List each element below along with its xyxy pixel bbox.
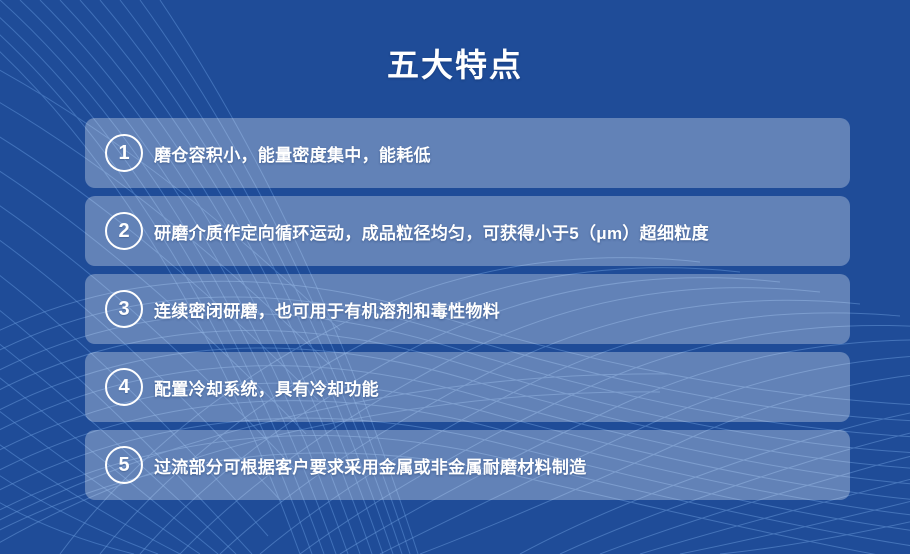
feature-text-2: 研磨介质作定向循环运动，成品粒径均匀，可获得小于5（μm）超细粒度 [154,219,709,244]
feature-number-badge-4: 4 [105,368,143,406]
feature-item-1[interactable]: 1 磨仓容积小，能量密度集中，能耗低 [85,118,850,188]
feature-text-5: 过流部分可根据客户要求采用金属或非金属耐磨材料制造 [154,453,587,478]
feature-number-badge-5: 5 [105,446,143,484]
feature-item-4[interactable]: 4 配置冷却系统，具有冷却功能 [85,352,850,422]
feature-list: 1 磨仓容积小，能量密度集中，能耗低 2 研磨介质作定向循环运动，成品粒径均匀，… [85,118,850,500]
feature-number-badge-1: 1 [105,134,143,172]
feature-number-badge-3: 3 [105,290,143,328]
feature-item-3[interactable]: 3 连续密闭研磨，也可用于有机溶剂和毒性物料 [85,274,850,344]
feature-text-4: 配置冷却系统，具有冷却功能 [154,375,379,400]
feature-number-badge-2: 2 [105,212,143,250]
feature-text-1: 磨仓容积小，能量密度集中，能耗低 [154,141,431,166]
infographic-canvas: 五大特点 1 磨仓容积小，能量密度集中，能耗低 2 研磨介质作定向循环运动，成品… [0,0,910,554]
feature-item-2[interactable]: 2 研磨介质作定向循环运动，成品粒径均匀，可获得小于5（μm）超细粒度 [85,196,850,266]
page-title: 五大特点 [0,40,910,86]
feature-item-5[interactable]: 5 过流部分可根据客户要求采用金属或非金属耐磨材料制造 [85,430,850,500]
feature-text-3: 连续密闭研磨，也可用于有机溶剂和毒性物料 [154,297,500,322]
